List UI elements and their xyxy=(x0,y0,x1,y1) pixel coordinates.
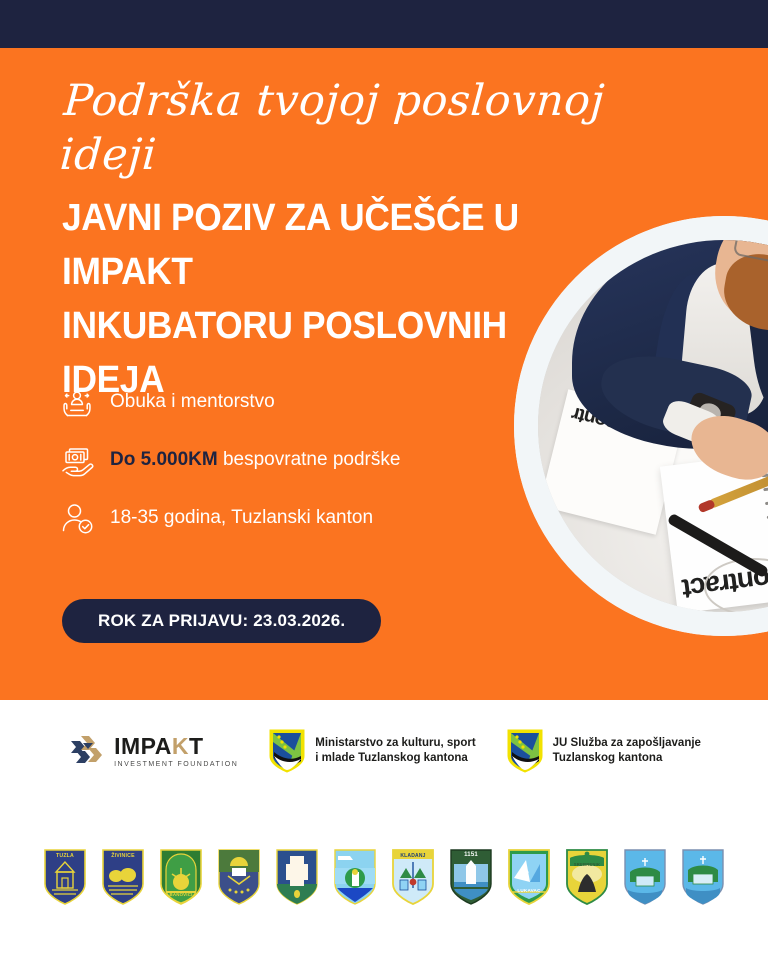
feature-label: 18-35 godina, Tuzlanski kanton xyxy=(110,506,373,530)
crest-doboj-istok: 1151 xyxy=(448,848,494,906)
sponsor-sluzba: JU Služba za zapošljavanje Tuzlanskog ka… xyxy=(506,728,701,774)
crest-sapna xyxy=(680,848,726,906)
crest-kladanj: KLADANJ xyxy=(390,848,436,906)
crest-celic xyxy=(332,848,378,906)
municipality-crest-row: TUZLA ŽIVINICE BANO xyxy=(0,848,768,906)
crest-caption: 1151 xyxy=(448,852,494,858)
top-navy-bar xyxy=(0,0,768,48)
impakt-mark-icon xyxy=(67,732,107,770)
crest-zivinice: ŽIVINICE xyxy=(100,848,146,906)
impakt-wordmark: IMPAKT INVESTMENT FOUNDATION xyxy=(114,735,238,768)
feature-label: Obuka i mentorstvo xyxy=(110,390,275,414)
sponsor-logo-row: IMPAKT INVESTMENT FOUNDATION xyxy=(0,728,768,774)
sponsor-ministarstvo: Ministarstvo za kulturu, sport i mlade T… xyxy=(268,728,475,774)
feature-amount: Do 5.000KM xyxy=(110,449,218,470)
impakt-tagline: INVESTMENT FOUNDATION xyxy=(114,761,238,768)
feature-list: Obuka i mentorstvo Do 5.000KM bespovratn… xyxy=(56,373,486,547)
feature-suffix: bespovratne podrške xyxy=(223,449,400,470)
impakt-name: IMPAKT xyxy=(114,735,238,758)
crest-srebrenik: SREBRENIK xyxy=(564,848,610,906)
poster: Podrška tvojoj poslovnoj ideji JAVNI POZ… xyxy=(0,0,768,960)
mentorship-icon xyxy=(56,381,98,423)
hero-section: Podrška tvojoj poslovnoj ideji JAVNI POZ… xyxy=(0,48,768,700)
crest-caption: TUZLA xyxy=(42,853,88,859)
crest-caption: KLADANJ xyxy=(390,853,436,859)
deadline-label: ROK ZA PRIJAVU: 23.03.2026. xyxy=(98,611,345,631)
sponsor-impakt: IMPAKT INVESTMENT FOUNDATION xyxy=(67,732,238,770)
sponsor-label: JU Služba za zapošljavanje Tuzlanskog ka… xyxy=(553,736,701,766)
crest-lukavac: LUKAVAC xyxy=(506,848,552,906)
crest-gradacac xyxy=(274,848,320,906)
money-hand-icon xyxy=(56,439,98,481)
crest-caption: LUKAVAC xyxy=(506,888,552,893)
crest-caption: SREBRENIK xyxy=(564,862,610,867)
footer: IMPAKT INVESTMENT FOUNDATION xyxy=(0,700,768,960)
user-check-icon xyxy=(56,497,98,539)
list-item: 18-35 godina, Tuzlanski kanton xyxy=(56,489,486,547)
photo-circle: contr contract xyxy=(514,216,768,636)
crest-teocak xyxy=(622,848,668,906)
script-title: Podrška tvojoj poslovnoj ideji xyxy=(58,74,686,182)
sponsor-label: Ministarstvo za kulturu, sport i mlade T… xyxy=(315,736,475,766)
deadline-badge[interactable]: ROK ZA PRIJAVU: 23.03.2026. xyxy=(62,599,381,643)
list-item: Obuka i mentorstvo xyxy=(56,373,486,431)
crest-banovici: BANOVIĆI xyxy=(158,848,204,906)
tk-coat-of-arms-icon xyxy=(268,728,306,774)
crest-gracanica xyxy=(216,848,262,906)
crest-tuzla: TUZLA xyxy=(42,848,88,906)
headline-line-1: JAVNI POZIV ZA UČEŠĆE U IMPAKT xyxy=(62,191,536,299)
list-item: Do 5.000KM bespovratne podrške xyxy=(56,431,486,489)
crest-caption: ŽIVINICE xyxy=(100,853,146,859)
contract-signing-photo: contr contract xyxy=(538,240,768,612)
feature-label: Do 5.000KM bespovratne podrške xyxy=(110,448,400,472)
tk-coat-of-arms-icon xyxy=(506,728,544,774)
crest-caption: BANOVIĆI xyxy=(158,892,204,897)
